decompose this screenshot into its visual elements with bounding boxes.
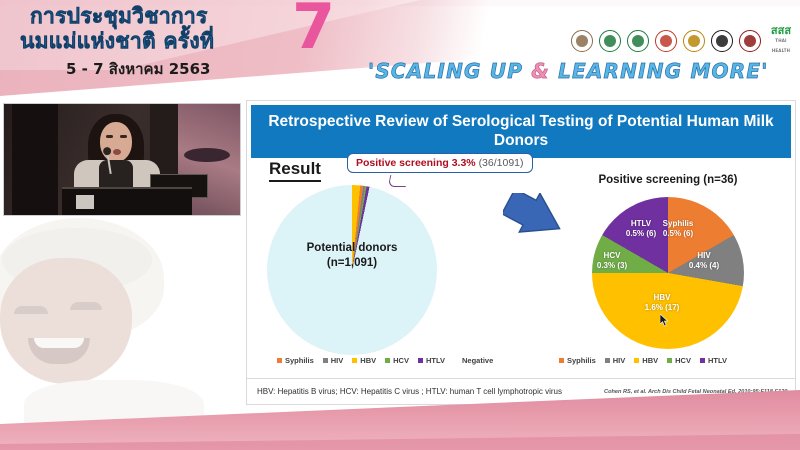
logo-black-emblem [710, 29, 734, 53]
child-face [0, 258, 132, 384]
tagline-ampersand: & [531, 59, 550, 83]
slice-label-hiv-value: 0.4% (4) [679, 261, 729, 271]
flow-arrow-icon [503, 193, 565, 245]
slice-label-hbv: HBV 1.6% (17) [619, 293, 705, 313]
legend-item-htlv: HTLV [418, 356, 445, 365]
edition-number: 7 [292, 0, 335, 58]
legend-potential-donors: Syphilis HIV HBV HCV HTLV Negative [277, 356, 493, 365]
tagline-part2: LEARNING MORE' [550, 59, 769, 83]
callout-strong-text: Positive screening 3.3% [356, 157, 476, 169]
speaker-mouth [113, 149, 121, 155]
legend-label-syphilis: Syphilis [285, 356, 314, 365]
result-heading: Result [269, 159, 321, 182]
webinar-frame: การประชุมวิชาการ นมแม่แห่งชาติ ครั้งที่ … [0, 0, 800, 450]
slice-label-htlv-value: 0.5% (6) [615, 229, 667, 239]
pie-left-label-line2: (n=1,091) [267, 256, 437, 271]
child-eye-left [14, 306, 48, 314]
legend-item-hbv: HBV [352, 356, 376, 365]
speaker-video-panel[interactable] [3, 103, 241, 216]
slice-label-hbv-value: 1.6% (17) [619, 303, 705, 313]
pie-left-center-label: Potential donors (n=1,091) [267, 241, 437, 271]
slice-label-hcv: HCV 0.3% (3) [587, 251, 637, 271]
callout-leader-line [388, 175, 409, 187]
legend2-label-hcv: HCV [675, 356, 691, 365]
abbreviation-note: HBV: Hepatitis B virus; HCV: Hepatitis C… [257, 387, 562, 396]
slice-label-hcv-value: 0.3% (3) [587, 261, 637, 271]
slice-label-hiv-name: HIV [679, 251, 729, 261]
child-eye-right [70, 302, 102, 310]
slice-label-hcv-name: HCV [587, 251, 637, 261]
logo-orange-emblem [654, 29, 678, 53]
logo-red-crest [738, 29, 762, 53]
speaker-eye-right [120, 135, 127, 138]
slide-title: Retrospective Review of Serological Test… [251, 105, 791, 158]
background-child-photo [0, 214, 246, 428]
legend2-item-syphilis: Syphilis [559, 356, 596, 365]
conference-title-line2: นมแม่แห่งชาติ ครั้งที่ [20, 29, 318, 54]
conference-title-block: การประชุมวิชาการ นมแม่แห่งชาติ ครั้งที่ … [18, 4, 318, 81]
legend-label-htlv: HTLV [426, 356, 445, 365]
legend-label-hiv: HIV [331, 356, 344, 365]
legend2-item-hbv: HBV [634, 356, 658, 365]
slice-label-hiv: HIV 0.4% (4) [679, 251, 729, 271]
logo-ministry-health-green [598, 29, 622, 53]
legend2-label-hbv: HBV [642, 356, 658, 365]
slice-label-htlv-name: HTLV [615, 219, 667, 229]
sponsor-logo-row: สสส THAI HEALTH [570, 26, 796, 56]
speaker-face [100, 122, 132, 162]
slice-label-htlv: HTLV 0.5% (6) [615, 219, 667, 239]
legend-item-syphilis: Syphilis [277, 356, 314, 365]
logo-royal-seal [570, 29, 594, 53]
mouse-cursor-icon [660, 314, 669, 327]
conference-title-line1: การประชุมวิชาการ [30, 4, 318, 29]
legend-label-negative: Negative [462, 356, 493, 365]
speaker-eye-left [106, 135, 113, 138]
legend2-item-htlv: HTLV [700, 356, 727, 365]
logo-garuda-crest [682, 29, 706, 53]
legend2-item-hcv: HCV [667, 356, 691, 365]
slice-label-hbv-name: HBV [619, 293, 705, 303]
legend-item-hiv: HIV [323, 356, 344, 365]
positive-screening-heading: Positive screening (n=36) [563, 174, 773, 186]
legend-item-negative: Negative [454, 356, 493, 365]
positive-screening-callout: Positive screening 3.3% (36/1091) [347, 153, 533, 173]
legend2-label-hiv: HIV [613, 356, 626, 365]
logo-thaihealth: สสส THAI HEALTH [766, 26, 796, 56]
legend-positive-screening: Syphilis HIV HBV HCV HTLV [559, 356, 727, 365]
legend2-label-syphilis: Syphilis [567, 356, 596, 365]
legend-item-hcv: HCV [385, 356, 409, 365]
thaihealth-sublabel: THAI HEALTH [766, 36, 796, 56]
conference-date: 5 - 7 สิงหาคม 2563 [66, 57, 318, 81]
tagline-part1: 'SCALING UP [368, 59, 531, 83]
pie-left-label-line1: Potential donors [267, 241, 437, 256]
conference-tagline: 'SCALING UP & LEARNING MORE' [368, 59, 769, 83]
callout-sub-text: (36/1091) [479, 157, 524, 169]
legend2-item-hiv: HIV [605, 356, 626, 365]
presentation-slide: Retrospective Review of Serological Test… [246, 100, 796, 405]
legend-label-hcv: HCV [393, 356, 409, 365]
legend2-label-htlv: HTLV [708, 356, 727, 365]
podium [62, 187, 192, 215]
legend-label-hbv: HBV [360, 356, 376, 365]
logo-health-dept-green [626, 29, 650, 53]
video-wall-panel-left [12, 104, 58, 216]
